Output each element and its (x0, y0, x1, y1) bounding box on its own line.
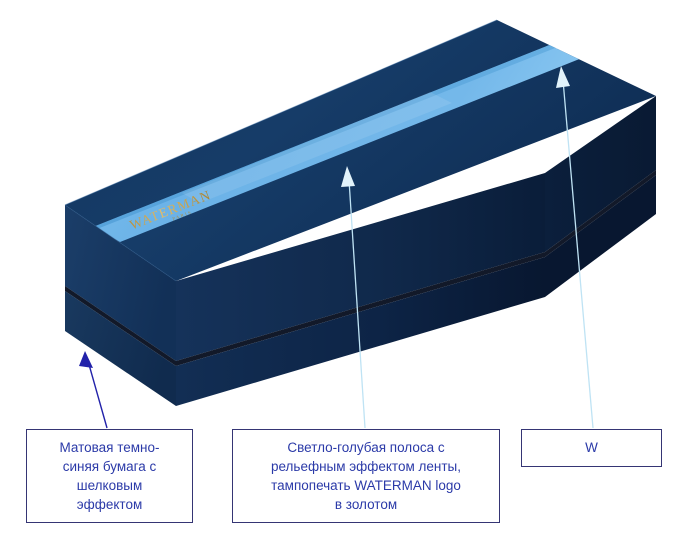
callout-w-monogram: W (521, 429, 662, 467)
callout-matte-paper-line-3: шелковым (33, 476, 186, 495)
callout-matte-paper-line-4: эффектом (33, 495, 186, 514)
callout-blue-stripe-line-4: в золотом (239, 495, 493, 514)
leader-arrow-w-monogram (556, 66, 593, 428)
callout-blue-stripe: Светло-голубая полоса с рельефным эффект… (232, 429, 500, 523)
callout-blue-stripe-line-3: тампопечать WATERMAN logo (239, 476, 493, 495)
callout-w-monogram-line-1: W (528, 438, 655, 457)
leader-arrow-matte-paper (79, 351, 107, 428)
callout-matte-paper-line-2: синяя бумага с (33, 457, 186, 476)
leader-arrow-blue-stripe (341, 166, 365, 428)
callout-matte-paper: Матовая темно- синяя бумага с шелковым э… (26, 429, 193, 523)
callout-blue-stripe-line-1: Светло-голубая полоса с (239, 438, 493, 457)
callout-blue-stripe-line-2: рельефным эффектом ленты, (239, 457, 493, 476)
callout-matte-paper-line-1: Матовая темно- (33, 438, 186, 457)
annotated-product-diagram: W W WATERMAN PARIS (0, 0, 677, 548)
